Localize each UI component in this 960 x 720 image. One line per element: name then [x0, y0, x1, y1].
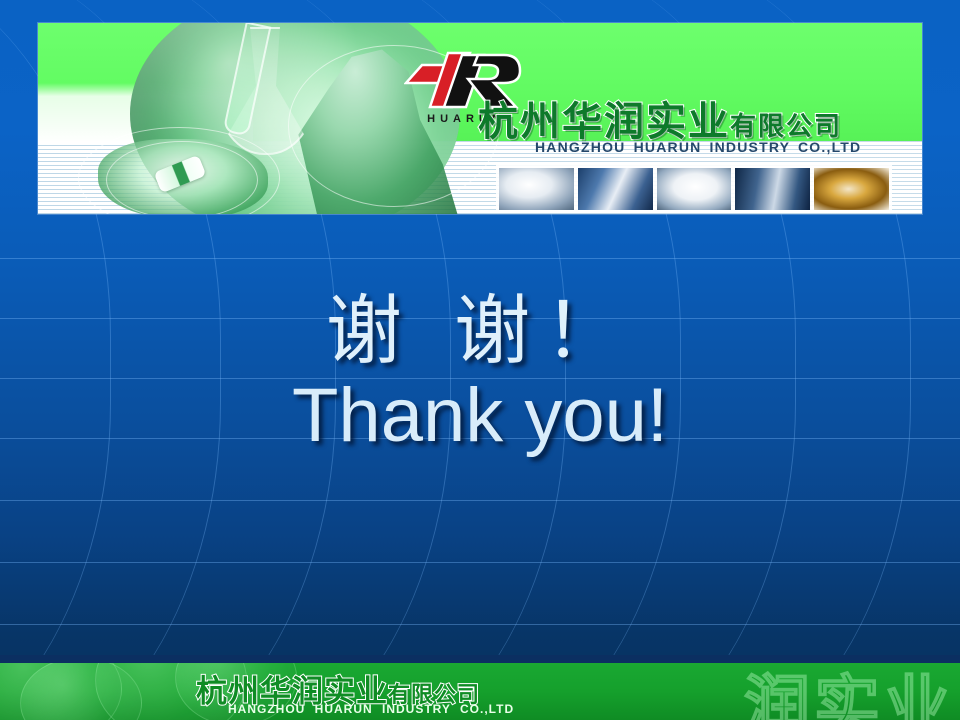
slide-canvas: HUARUN 杭州华润实业有限公司 HANGZHOU HUARUN INDUST… — [0, 0, 960, 720]
footer-divider — [0, 655, 960, 663]
product-photo-strip — [496, 165, 892, 213]
footer-bar: 润实业 杭州华润实业有限公司 HANGZHOU HUARUN INDUSTRY … — [0, 663, 960, 720]
product-photo-vials — [735, 168, 810, 210]
banner-company-name-en: HANGZHOU HUARUN INDUSTRY CO.,LTD — [535, 139, 861, 155]
latitude-line — [0, 258, 960, 259]
product-photo-syringes — [578, 168, 653, 210]
latitude-line — [0, 378, 960, 379]
product-photo-pump-bottles — [499, 168, 574, 210]
product-photo-amber-jars — [814, 168, 889, 210]
footer-watermark-zh: 润实业 — [744, 663, 954, 720]
footer-company-name-en: HANGZHOU HUARUN INDUSTRY CO.,LTD — [228, 702, 514, 716]
thank-you-block: 谢 谢！ Thank you! — [0, 288, 960, 458]
banner-company-name-zh-suffix: 有限公司 — [730, 112, 842, 142]
latitude-line — [0, 318, 960, 319]
latitude-line — [0, 438, 960, 439]
thanks-text-zh: 谢 谢！ — [0, 288, 960, 374]
latitude-line — [0, 500, 960, 501]
company-banner: HUARUN 杭州华润实业有限公司 HANGZHOU HUARUN INDUST… — [38, 23, 922, 214]
decorative-ring — [106, 141, 258, 214]
thanks-text-en: Thank you! — [0, 374, 960, 458]
latitude-line — [0, 624, 960, 625]
latitude-line — [0, 562, 960, 563]
product-photo-dropper-bottles — [657, 168, 732, 210]
